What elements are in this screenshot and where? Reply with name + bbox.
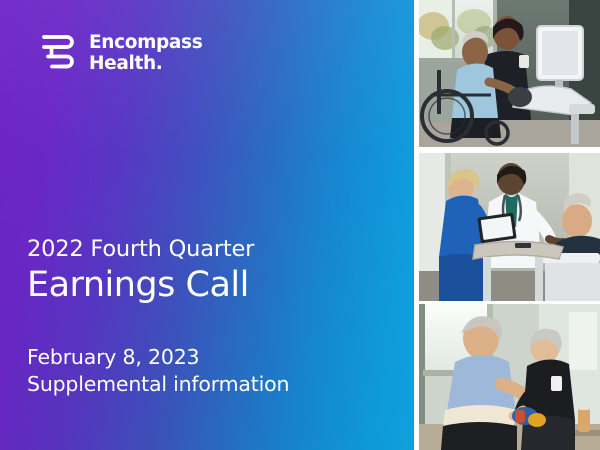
brand-wordmark-line-2: Health. [89,54,202,75]
encompass-health-e-mark-icon [41,31,78,76]
presentation-subtitle: Supplemental information [27,371,397,398]
photo-gait-training [419,304,600,450]
eyebrow-title: 2022 Fourth Quarter [27,236,397,263]
presentation-date: February 8, 2023 [27,344,397,371]
brand-logo-lockup: Encompass Health. [41,31,202,76]
photo-bedside-round [419,153,600,301]
meta-block: February 8, 2023 Supplemental informatio… [27,344,397,397]
page-title: Earnings Call [27,265,397,306]
presentation-title-slide: Encompass Health. 2022 Fourth Quarter Ea… [0,0,600,450]
brand-wordmark-line-1: Encompass [89,33,202,54]
gradient-background-panel: Encompass Health. 2022 Fourth Quarter Ea… [0,0,414,450]
title-block: 2022 Fourth Quarter Earnings Call [27,236,397,305]
brand-trademark-mark: . [156,53,163,74]
brand-wordmark: Encompass Health. [89,33,202,74]
photo-column [419,0,600,450]
photo-therapy-gym [419,0,600,147]
